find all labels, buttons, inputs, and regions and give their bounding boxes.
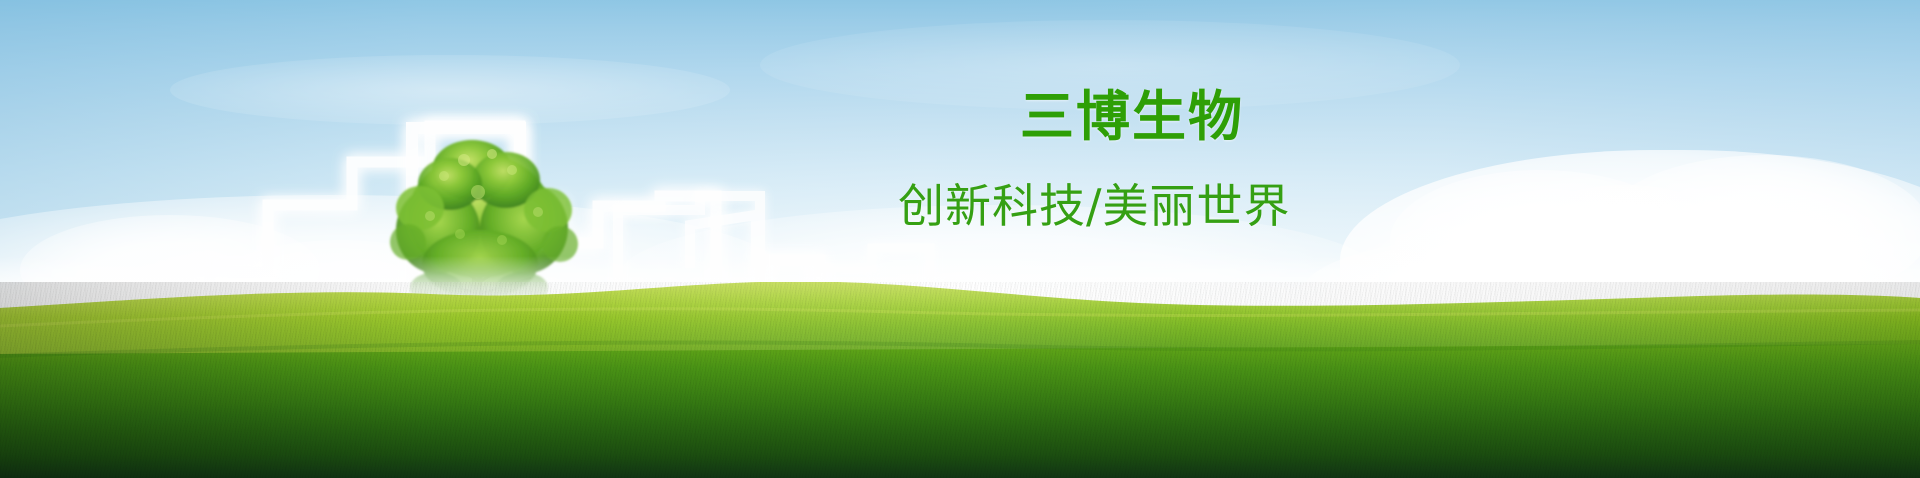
brand-slogan: 创新科技/美丽世界 bbox=[898, 178, 1291, 234]
grass-field bbox=[0, 282, 1920, 478]
grass-shading bbox=[0, 282, 1920, 478]
brand-title: 三博生物 bbox=[1020, 86, 1244, 148]
hero-banner: 三博生物 创新科技/美丽世界 bbox=[0, 0, 1920, 478]
